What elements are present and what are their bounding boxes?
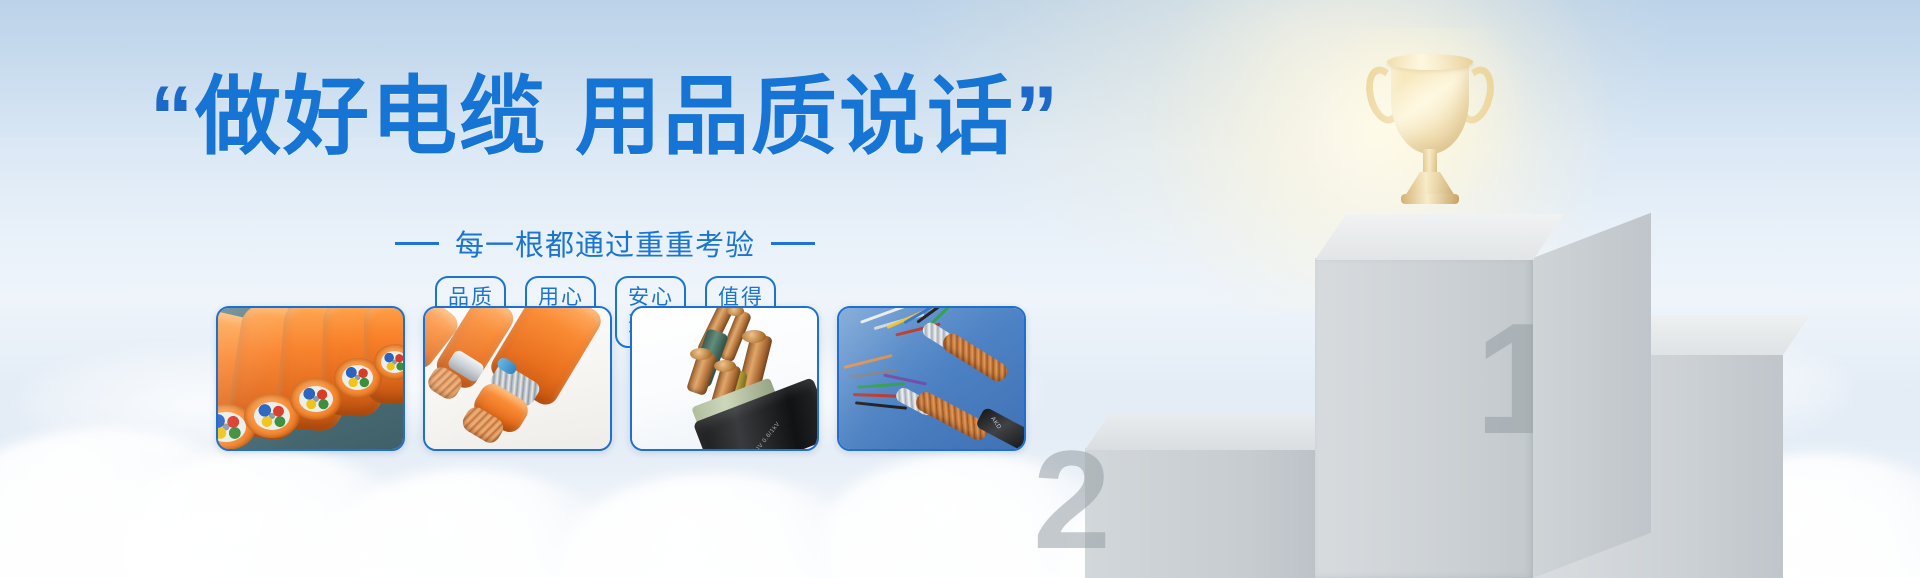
banner-subtitle-row: 每一根都通过重重考验: [0, 222, 1210, 264]
podium-block-2-top: [1085, 414, 1341, 450]
podium-block-2: 2: [1085, 448, 1317, 578]
promo-banner: 2 3 1 “做好电缆用品质说话” 每一根都通过重重考验: [0, 0, 1920, 578]
trophy-base: [1405, 172, 1455, 196]
podium-illustration: 2 3 1: [1215, 58, 1920, 578]
subtitle-dash-left: [395, 242, 439, 245]
gold-trophy-icon: [1361, 52, 1499, 214]
close-quote-mark: ”: [1015, 69, 1060, 165]
banner-subtitle: 每一根都通过重重考验: [455, 222, 755, 264]
orange-multicore-cable-bundle-image: [218, 308, 403, 449]
cable-shield-label: AKD: [989, 416, 1002, 431]
trophy-base-plate: [1401, 194, 1459, 204]
podium-block-1: 1: [1315, 258, 1533, 578]
product-card-stripped-copper[interactable]: [423, 306, 612, 451]
shielded-braided-control-cable-image: AKD: [839, 308, 1024, 449]
headline-part-1: 做好电缆: [195, 69, 547, 165]
podium-number-2: 2: [1033, 430, 1111, 570]
trophy-bowl: [1391, 58, 1469, 154]
stripped-orange-cable-copper-core-image: [425, 308, 610, 449]
subtitle-dash-right: [771, 242, 815, 245]
product-card-shielded-cable[interactable]: AKD: [837, 306, 1026, 451]
podium-block-1-side: [1533, 213, 1651, 578]
cable-jacket-label: YJV 0.6/1kV: [752, 421, 781, 451]
trophy-rim: [1387, 54, 1473, 70]
open-quote-mark: “: [150, 69, 195, 165]
product-card-orange-multicore[interactable]: [216, 306, 405, 451]
podium-block-1-top: [1315, 214, 1564, 260]
product-image-cards: YJV 0.6/1kV: [216, 306, 1026, 451]
trophy-stem: [1423, 149, 1437, 175]
headline-part-2: 用品质说话: [575, 69, 1015, 165]
black-jacket-power-cable-image: YJV 0.6/1kV: [632, 308, 817, 449]
product-card-black-power-cable[interactable]: YJV 0.6/1kV: [630, 306, 819, 451]
banner-headline: “做好电缆用品质说话”: [0, 72, 1210, 162]
